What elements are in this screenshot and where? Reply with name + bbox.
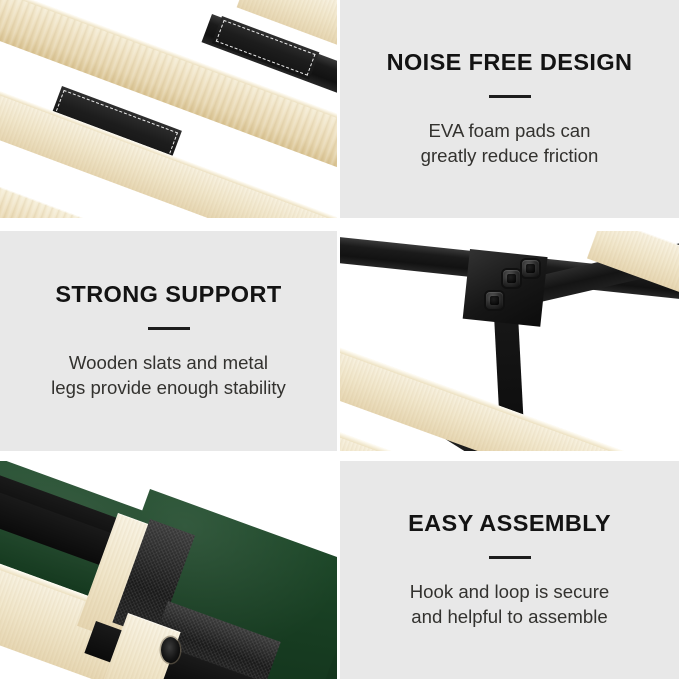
feature-body-line: Wooden slats and metal [51, 351, 286, 376]
feature-title: EASY ASSEMBLY [408, 510, 611, 536]
feature-collage: NOISE FREE DESIGN EVA foam pads can grea… [0, 0, 679, 679]
easy-assembly-photo [0, 461, 337, 679]
feature-body-line: and helpful to assemble [410, 605, 609, 630]
feature-body: Hook and loop is secure and helpful to a… [410, 580, 609, 630]
feature-body-line: legs provide enough stability [51, 376, 286, 401]
hex-bolt [503, 270, 520, 287]
hex-bolt [522, 260, 539, 277]
feature-card-noise-free-design: NOISE FREE DESIGN EVA foam pads can grea… [340, 0, 679, 218]
feature-body: EVA foam pads can greatly reduce frictio… [421, 119, 599, 169]
screw-eyelet [161, 637, 180, 663]
feature-card-easy-assembly: EASY ASSEMBLY Hook and loop is secure an… [340, 461, 679, 679]
feature-body: Wooden slats and metal legs provide enou… [51, 351, 286, 401]
title-divider [489, 556, 531, 559]
feature-title: STRONG SUPPORT [55, 281, 281, 307]
feature-body-line: Hook and loop is secure [410, 580, 609, 605]
noise-free-design-photo [0, 0, 337, 218]
feature-title: NOISE FREE DESIGN [387, 49, 633, 75]
hex-bolt [486, 292, 503, 309]
feature-body-line: greatly reduce friction [421, 144, 599, 169]
feature-body-line: EVA foam pads can [421, 119, 599, 144]
title-divider [489, 95, 531, 98]
title-divider [148, 327, 190, 330]
feature-card-strong-support: STRONG SUPPORT Wooden slats and metal le… [0, 231, 337, 451]
strong-support-photo [340, 231, 679, 451]
